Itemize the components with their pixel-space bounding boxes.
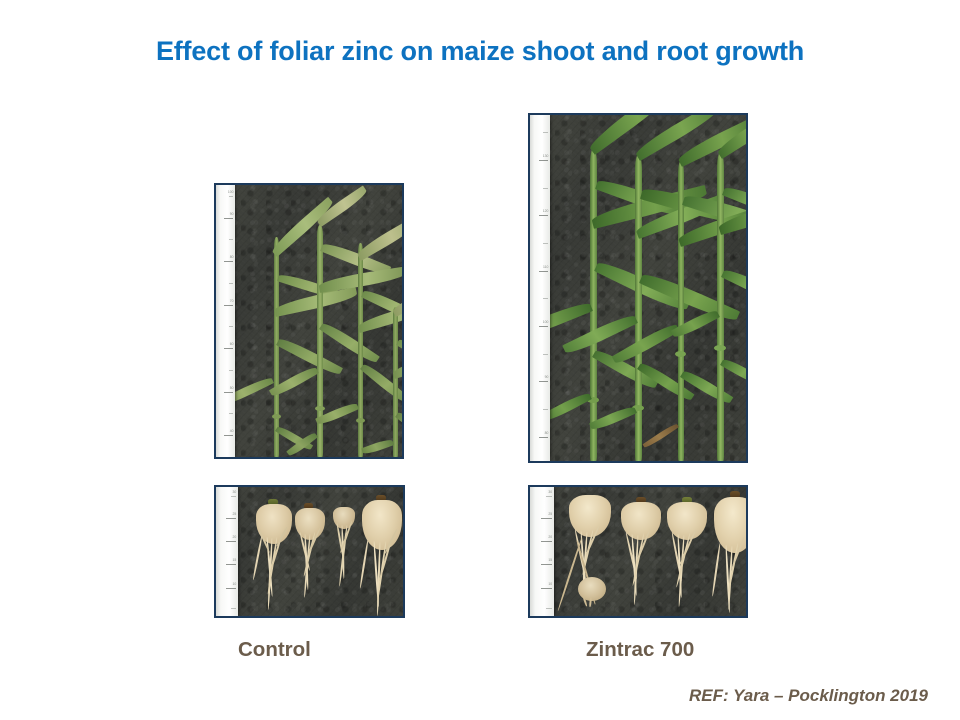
detached-root-ball <box>576 573 610 607</box>
page-title: Effect of foliar zinc on maize shoot and… <box>0 36 960 67</box>
maize-shoot <box>346 221 386 457</box>
reference-note: REF: Yara – Pocklington 2019 <box>689 686 928 706</box>
maize-root-mass <box>252 499 296 615</box>
maize-root-mass <box>292 503 330 607</box>
maize-shoot <box>383 285 404 457</box>
maize-shoot <box>706 135 748 461</box>
zintrac-caption: Zintrac 700 <box>586 638 694 662</box>
maize-shoot <box>260 217 300 457</box>
maize-root-mass <box>710 491 748 617</box>
ruler-control-shoot: 100 90 80 70 60 50 40 <box>216 185 235 457</box>
maize-shoot <box>620 137 666 461</box>
control-root-photo: 30 25 20 15 10 <box>214 485 405 618</box>
control-caption: Control <box>238 638 311 662</box>
zintrac-root-photo: 30 25 20 15 10 <box>528 485 748 618</box>
ruler-zintrac-root: 30 25 20 15 10 <box>530 487 554 616</box>
control-shoot-photo: 100 90 80 70 60 50 40 <box>214 183 404 459</box>
slide-canvas: { "slide": { "title": "Effect of foliar … <box>0 0 960 720</box>
ruler-control-root: 30 25 20 15 10 <box>216 487 238 616</box>
maize-root-mass <box>358 495 404 615</box>
maize-root-mass <box>328 505 362 603</box>
zintrac-shoot-photo: 130 120 110 100 90 80 <box>528 113 748 463</box>
maize-root-mass <box>662 497 712 613</box>
ruler-zintrac-shoot: 130 120 110 100 90 80 <box>530 115 550 461</box>
maize-shoot <box>664 143 710 461</box>
maize-root-mass <box>616 497 666 613</box>
